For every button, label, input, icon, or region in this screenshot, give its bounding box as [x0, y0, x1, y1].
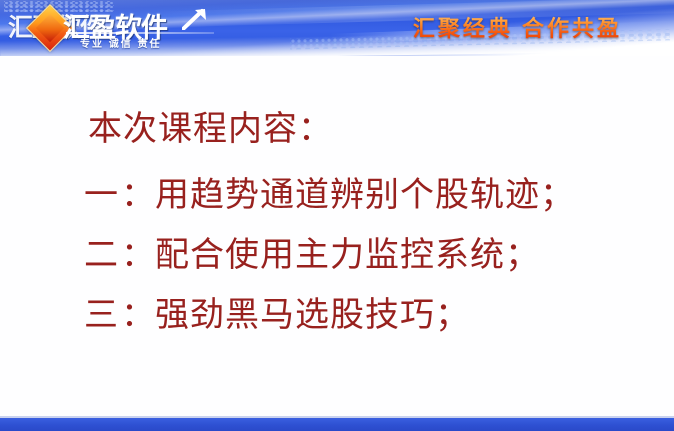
brand-underline	[66, 32, 214, 34]
growth-arrow-icon	[182, 8, 208, 30]
header-slogan: 汇聚经典 合作共盈	[413, 11, 622, 43]
agenda-item-2-text: 配合使用主力监控系统；	[155, 237, 540, 274]
agenda-item-1-separator: ：	[121, 177, 155, 214]
brand-tagline: 专业 诚信 责任	[80, 35, 162, 50]
diamond-logo-icon-inner	[36, 14, 64, 42]
agenda-item-2: 二：配合使用主力监控系统；	[84, 227, 540, 276]
agenda-item-3-separator: ：	[121, 297, 155, 334]
page-title: 本次课程内容：	[88, 101, 333, 150]
agenda-item-1: 一：用趋势通道辨别个股轨迹；	[84, 167, 575, 216]
agenda-item-3-text: 强劲黑马选股技巧；	[155, 297, 470, 334]
brand-logo[interactable]: 汇盈软件 汇盈软件 专业 诚信 责任	[8, 2, 218, 52]
slide-content: 本次课程内容： 一：用趋势通道辨别个股轨迹； 二：配合使用主力监控系统； 三：强…	[0, 56, 674, 418]
agenda-item-2-number: 二	[84, 237, 119, 274]
agenda-item-3-number: 三	[84, 297, 119, 334]
agenda-item-1-number: 一	[84, 177, 119, 214]
footer-bar	[0, 418, 674, 431]
agenda-item-2-separator: ：	[121, 237, 155, 274]
slide-root: 汇盈软件 汇盈软件 专业 诚信 责任 汇聚经典 合作共盈 本次课程内容： 一：用…	[0, 0, 674, 431]
agenda-item-1-text: 用趋势通道辨别个股轨迹；	[155, 177, 575, 214]
header-banner: 汇盈软件 汇盈软件 专业 诚信 责任 汇聚经典 合作共盈	[0, 0, 674, 56]
agenda-item-3: 三：强劲黑马选股技巧；	[84, 287, 470, 336]
